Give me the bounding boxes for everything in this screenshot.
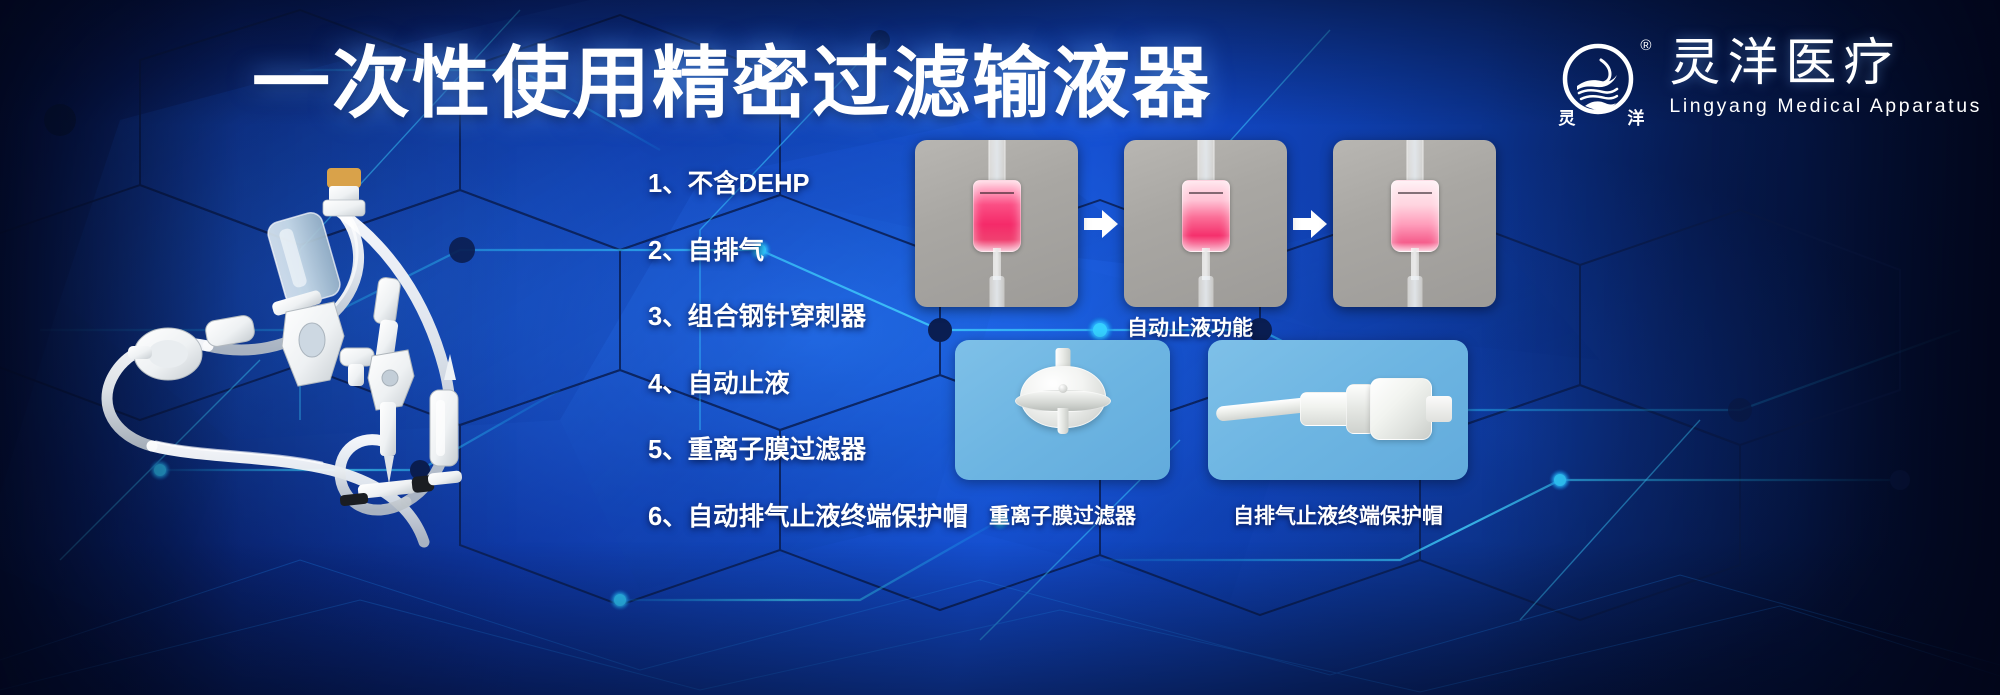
demo-fluid-line	[980, 192, 1014, 194]
company-name-en: Lingyang Medical Apparatus	[1669, 95, 1982, 118]
demo-frame-1	[915, 140, 1078, 307]
heavy-ion-membrane-filter-photo	[955, 340, 1170, 480]
demo-frame-2	[1124, 140, 1287, 307]
cap-tube	[1215, 397, 1308, 422]
auto-stop-demo-sequence	[915, 140, 1496, 307]
spike-connector	[323, 168, 365, 216]
product-caption-filter: 重离子膜过滤器	[955, 500, 1170, 530]
demo-tube-top	[988, 140, 1005, 184]
product-caption-cap: 自排气止液终端保护帽	[1208, 500, 1468, 530]
filter-center-port	[1058, 384, 1067, 393]
infusion-set-illustration	[40, 150, 660, 550]
emblem-char-yang: 洋	[1627, 110, 1644, 127]
steel-needle-assembly	[368, 277, 414, 484]
self-venting-terminal-protective-cap-photo	[1208, 340, 1468, 480]
main-product-photo	[40, 150, 660, 550]
demo-tube-bottom	[1407, 276, 1422, 307]
product-photo-row	[955, 340, 1468, 480]
demo-chamber-partial	[1182, 180, 1230, 252]
demo-frame-3	[1333, 140, 1496, 307]
demo-caption: 自动止液功能	[915, 312, 1465, 342]
feature-item-6: 6、自动排气止液终端保护帽	[648, 505, 978, 531]
demo-tube-top	[1406, 140, 1423, 184]
demo-tube-top	[1197, 140, 1214, 184]
demo-tube-bottom	[989, 276, 1004, 307]
arrow-right-icon	[1293, 209, 1327, 239]
brand-text-block: 灵洋医疗 Lingyang Medical Apparatus	[1669, 36, 1982, 118]
company-name-cn: 灵洋医疗	[1669, 36, 1982, 90]
demo-fluid-line	[1189, 192, 1223, 194]
drip-chamber	[265, 210, 343, 317]
cap-tip	[1426, 396, 1452, 422]
filter-outlet	[1057, 408, 1068, 434]
product-banner: 一次性使用精密过滤输液器 ® 灵 洋 灵洋医疗 Lingyang Medical…	[0, 0, 2000, 695]
feature-item-4: 4、自动止液	[648, 372, 978, 398]
demo-chamber-empty	[1391, 180, 1439, 252]
brand-logo: ® 灵 洋 灵洋医疗 Lingyang Medical Apparatus	[1555, 36, 1982, 128]
demo-arrow-1	[1078, 209, 1124, 239]
page-title: 一次性使用精密过滤输液器	[252, 44, 1212, 122]
demo-arrow-2	[1287, 209, 1333, 239]
emblem-char-ling: 灵	[1558, 110, 1575, 127]
cap-body	[1370, 378, 1432, 440]
feature-item-5: 5、重离子膜过滤器	[648, 438, 978, 464]
registered-trademark-icon: ®	[1640, 38, 1651, 53]
demo-chamber-full	[973, 180, 1021, 252]
demo-tube-bottom	[1198, 276, 1213, 307]
roller-clamp	[282, 302, 344, 386]
lingyang-emblem-icon: ® 灵 洋	[1555, 36, 1647, 128]
arrow-right-icon	[1084, 209, 1118, 239]
demo-fluid-line	[1398, 192, 1432, 194]
emblem-chinese-chars: 灵 洋	[1555, 110, 1647, 127]
